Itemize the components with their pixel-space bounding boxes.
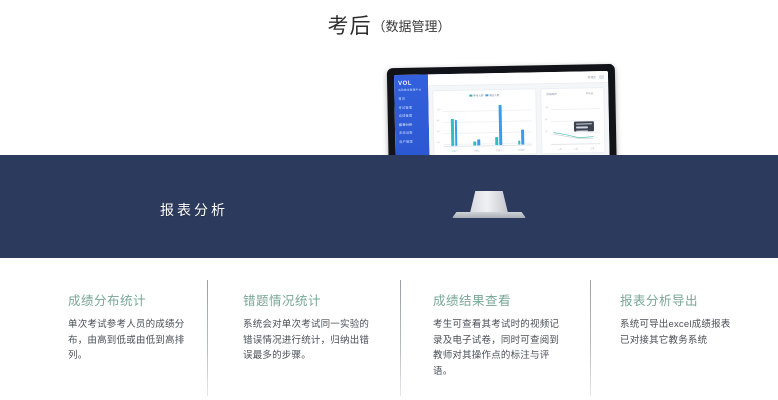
bar <box>521 130 524 145</box>
feature-body: 系统会对单次考试同一实验的错误情况进行统计，归纳出错误最多的步骤。 <box>243 317 371 364</box>
feature-heading: 错题情况统计 <box>243 290 413 309</box>
x-tick: 分组四 <box>518 148 525 152</box>
monitor-stand-neck <box>470 191 508 213</box>
page-title-main: 考后 <box>327 15 371 38</box>
feature-heading: 报表分析导出 <box>620 290 778 309</box>
y-tick: 100 <box>545 107 549 109</box>
y-tick-40: 40 <box>437 142 439 144</box>
feature-heading: 成绩结果查看 <box>433 290 603 309</box>
line-chart-legend: 平均分 <box>586 91 594 95</box>
sidebar-item-report[interactable]: 报表分析 <box>399 121 429 127</box>
dashboard-cards: 参考人数 通过人数 100 80 60 40 <box>428 83 609 156</box>
line-chart-card: 成绩趋势 平均分 100 60 20 <box>540 87 605 154</box>
chart-tooltip <box>574 121 594 131</box>
x-tick: 三月 <box>590 146 594 150</box>
legend-swatch-series-2 <box>485 95 488 97</box>
feature-body: 考生可查看其考试时的视频记录及电子试卷，同时可查阅到教师对其操作点的标注与评语。 <box>433 317 561 380</box>
feature-column-wrong-question-stats: 错题情况统计 系统会对单次考试同一实验的错误情况进行统计，归纳出错误最多的步骤。 <box>243 278 413 364</box>
bar <box>455 119 458 145</box>
bar <box>496 137 499 145</box>
app-logo-subtitle: 实验教学管理平台 <box>398 87 428 92</box>
y-tick-60: 60 <box>437 131 439 133</box>
legend-swatch-series-1 <box>469 95 472 97</box>
page-title-sub: （数据管理） <box>372 19 450 34</box>
slide-root: 考后（数据管理） VOL 实验教学管理平台 首页 考试管理 成绩管理 报表分析 … <box>0 0 778 400</box>
feature-column-report-export: 报表分析导出 系统可导出excel成绩报表已对接其它教务系统 <box>620 278 778 348</box>
report-analysis-banner <box>0 155 778 258</box>
bar-group <box>473 101 480 145</box>
monitor-stand-base <box>452 212 526 218</box>
feature-body: 单次考试参考人员的成绩分布，由高到低或由低到高排列。 <box>68 317 196 364</box>
sidebar-item-settings[interactable]: 系统设置 <box>399 130 429 136</box>
line-chart-title: 成绩趋势 <box>546 92 556 96</box>
x-tick: 分组一 <box>451 149 458 153</box>
legend-label-series-2: 通过人数 <box>489 94 499 97</box>
bar-chart-card: 参考人数 通过人数 100 80 60 40 <box>432 88 537 156</box>
tooltip-line <box>576 123 592 125</box>
page-title: 考后（数据管理） <box>0 10 778 40</box>
feature-columns: 成绩分布统计 单次考试参考人员的成绩分布，由高到低或由低到高排列。 错题情况统计… <box>0 278 778 400</box>
legend-label-series-1: 参考人数 <box>473 94 483 97</box>
bar-group <box>495 101 502 145</box>
x-tick: 分组二 <box>473 148 480 152</box>
y-tick: 60 <box>545 119 547 121</box>
bar-chart-plot <box>442 100 532 146</box>
sidebar-item-home[interactable]: 首页 <box>398 95 428 101</box>
bar-chart-legend: 参考人数 通过人数 <box>433 92 535 98</box>
bar-chart-x-labels: 分组一 分组二 分组三 分组四 <box>443 147 532 153</box>
app-logo: VOL <box>398 80 428 87</box>
x-tick: 一月 <box>557 147 561 151</box>
app-sidebar-menu: 首页 考试管理 成绩管理 报表分析 系统设置 用户管理 <box>394 95 429 144</box>
x-tick: 分组三 <box>496 148 503 152</box>
bar <box>451 119 454 146</box>
feature-body: 系统可导出excel成绩报表已对接其它教务系统 <box>620 317 738 348</box>
feature-heading: 成绩分布统计 <box>68 290 238 309</box>
banner-label: 报表分析 <box>160 200 228 220</box>
x-axis-line <box>551 143 600 145</box>
avatar[interactable] <box>599 75 604 79</box>
x-tick: 二月 <box>574 147 578 151</box>
y-tick-80: 80 <box>437 120 439 122</box>
y-tick: 20 <box>545 131 547 133</box>
sidebar-item-score[interactable]: 成绩管理 <box>399 113 429 119</box>
line-chart-x-labels: 一月 二月 三月 <box>551 146 600 151</box>
bar <box>499 105 502 146</box>
feature-column-result-view: 成绩结果查看 考生可查看其考试时的视频记录及电子试卷，同时可查阅到教师对其操作点… <box>433 278 603 380</box>
feature-column-score-distribution: 成绩分布统计 单次考试参考人员的成绩分布，由高到低或由低到高排列。 <box>68 278 238 364</box>
tooltip-line <box>576 127 588 129</box>
bar-group <box>517 101 524 145</box>
bar-group <box>450 102 457 146</box>
topbar-user-label: 管理员 <box>588 75 596 79</box>
sidebar-item-users[interactable]: 用户管理 <box>399 138 429 144</box>
y-tick-100: 100 <box>437 109 441 111</box>
sidebar-item-exam[interactable]: 考试管理 <box>399 104 429 110</box>
